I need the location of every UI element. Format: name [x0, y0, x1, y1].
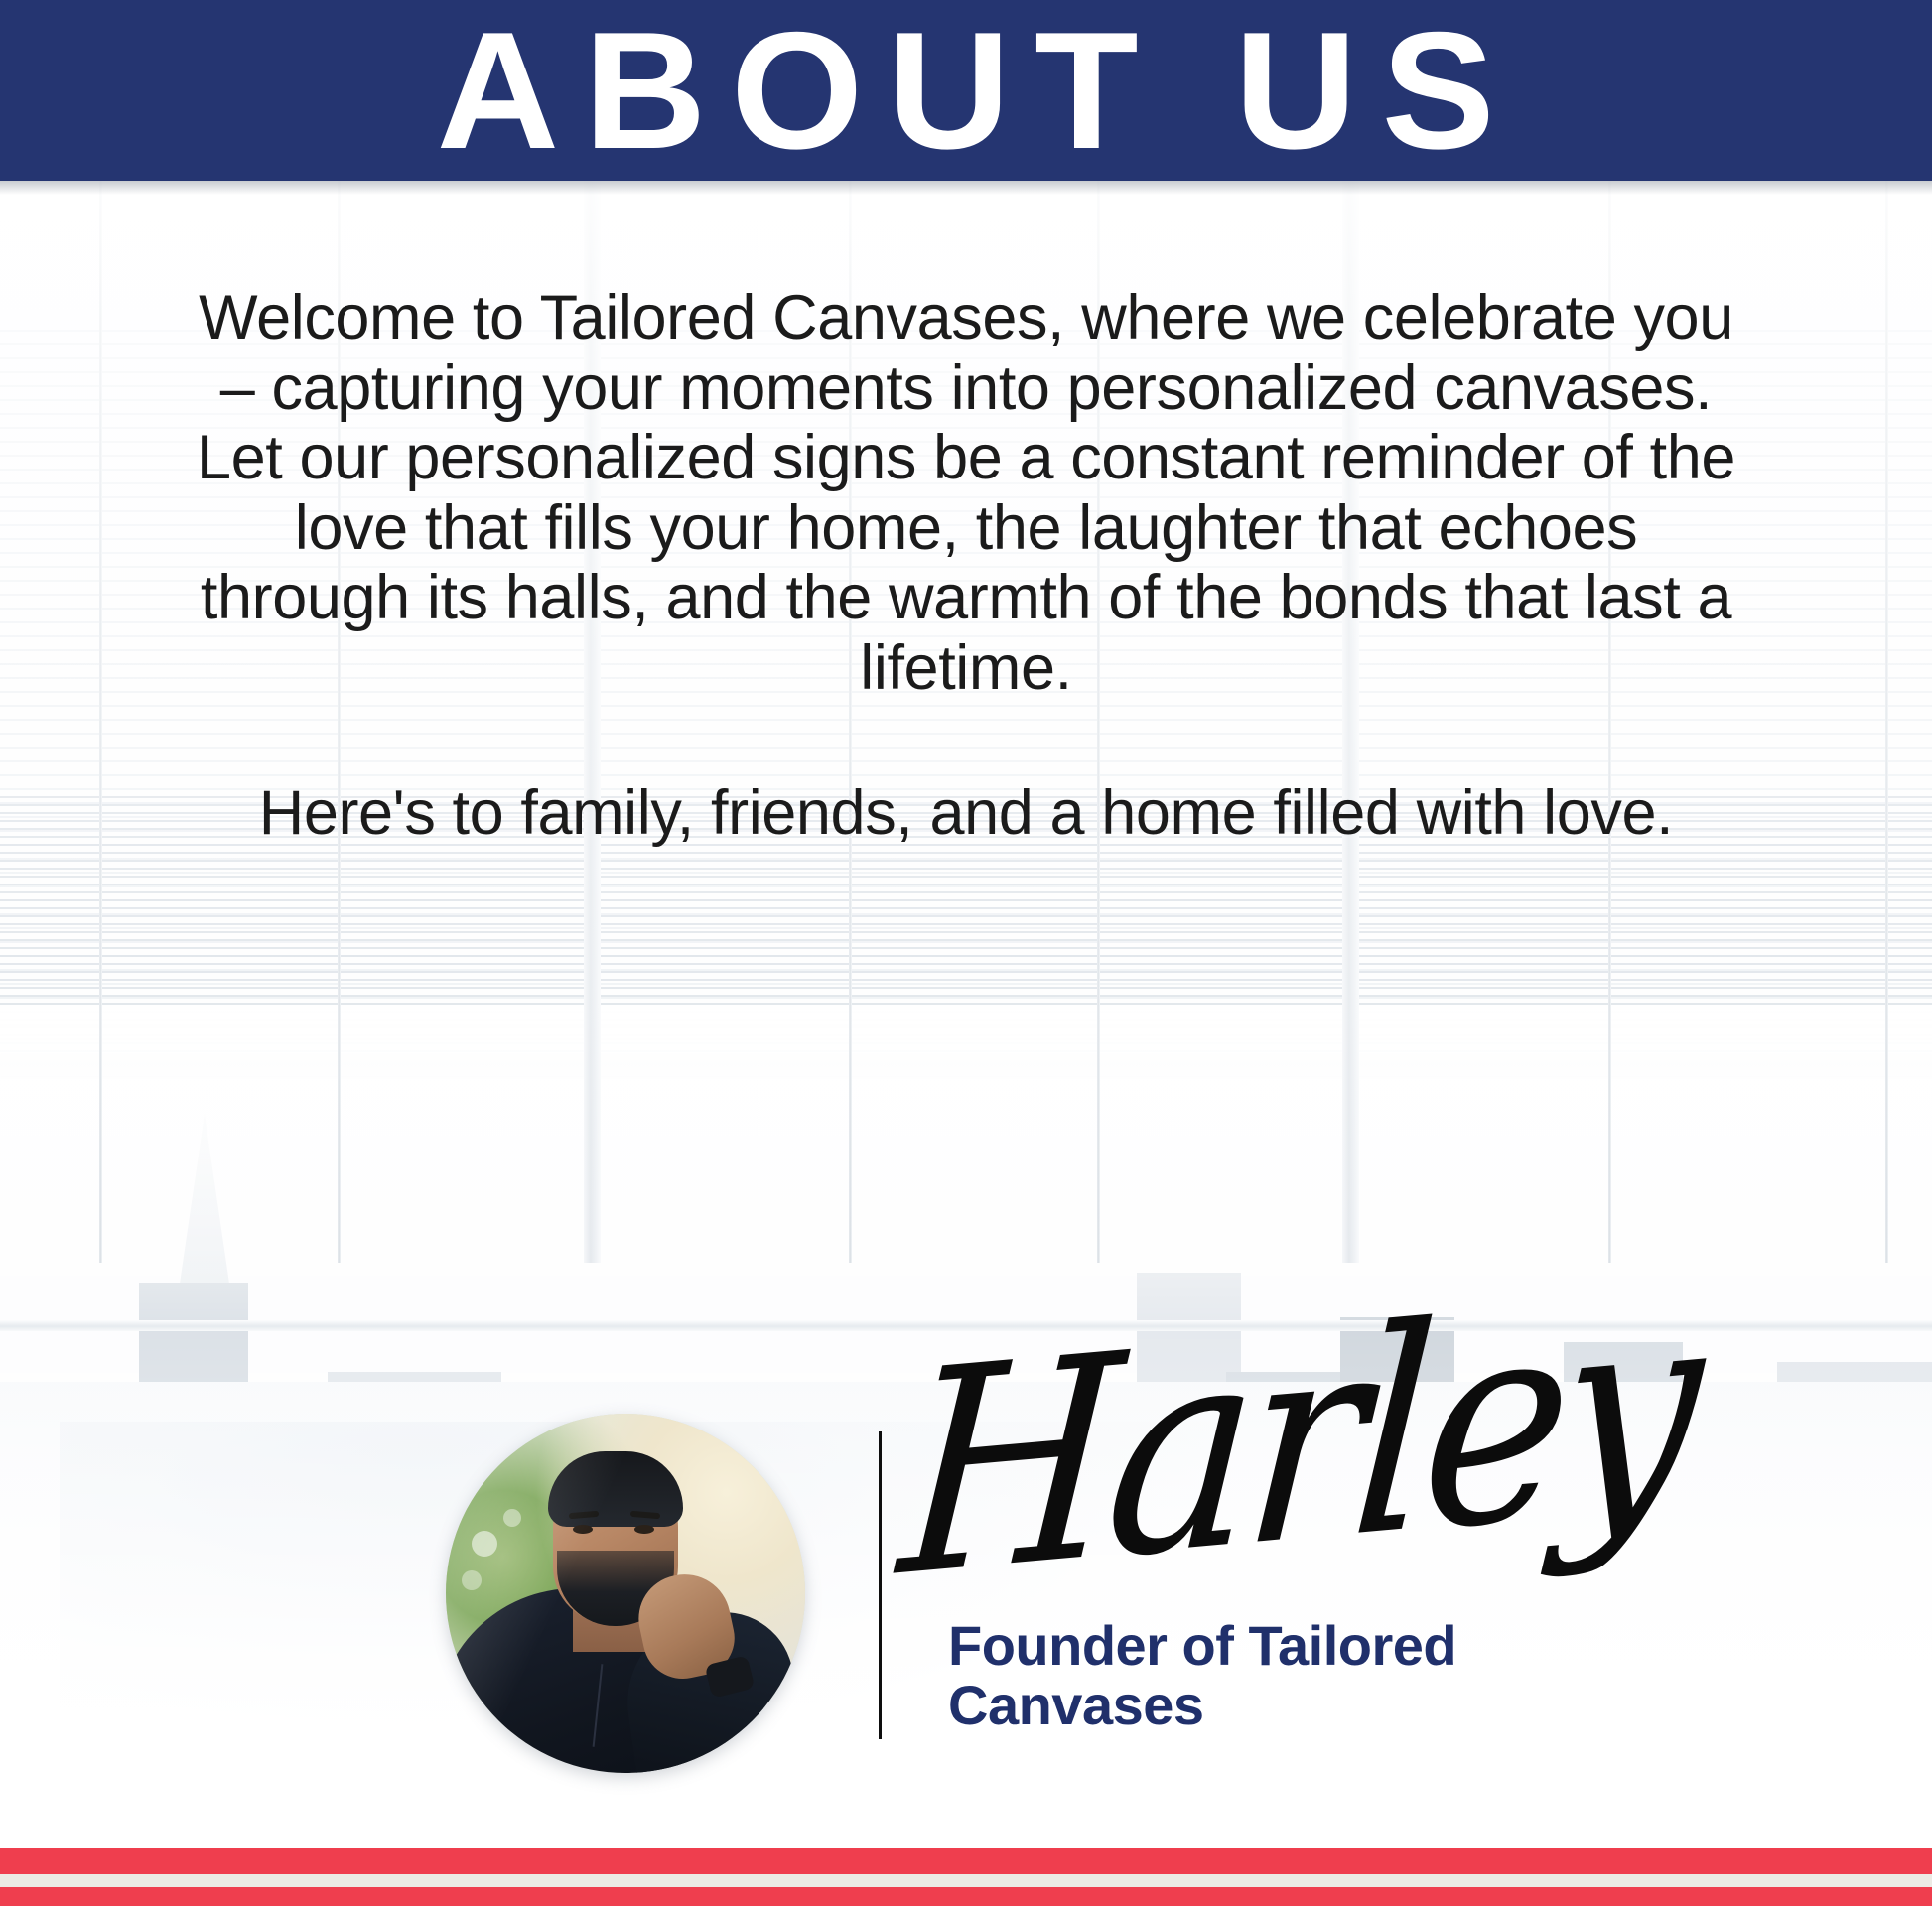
window-mullion [1885, 181, 1888, 1263]
about-us-poster: ABOUT US Welcome to Tailored Canvases, w… [0, 0, 1932, 1906]
page-title: ABOUT US [412, 7, 1519, 174]
avatar-eye [634, 1525, 654, 1534]
bokeh-light [472, 1531, 497, 1557]
footer-stripe-bottom [0, 1887, 1932, 1906]
avatar [446, 1414, 805, 1773]
header-drop-shadow [0, 181, 1932, 195]
founder-signature-name: Harley [894, 1267, 1700, 1616]
footer-stripe-gap [0, 1874, 1932, 1887]
about-us-body-copy: Welcome to Tailored Canvases, where we c… [182, 283, 1750, 849]
founder-signature-block: Harley Founder of Tailored Canvases [0, 1390, 1932, 1807]
paragraph-spacer [182, 703, 1750, 778]
avatar-eye [573, 1525, 593, 1534]
founder-role: Founder of Tailored Canvases [948, 1616, 1584, 1735]
paragraph-1: Welcome to Tailored Canvases, where we c… [182, 283, 1750, 703]
window-mullion [99, 181, 102, 1263]
vertical-divider-rule [879, 1431, 882, 1739]
bokeh-light [503, 1509, 521, 1527]
paragraph-2: Here's to family, friends, and a home fi… [182, 778, 1750, 849]
header-bar: ABOUT US [0, 0, 1932, 181]
footer-stripe-top [0, 1848, 1932, 1874]
founder-role-line-2: Canvases [948, 1676, 1584, 1735]
bokeh-light [462, 1570, 482, 1590]
founder-role-line-1: Founder of Tailored [948, 1616, 1584, 1676]
